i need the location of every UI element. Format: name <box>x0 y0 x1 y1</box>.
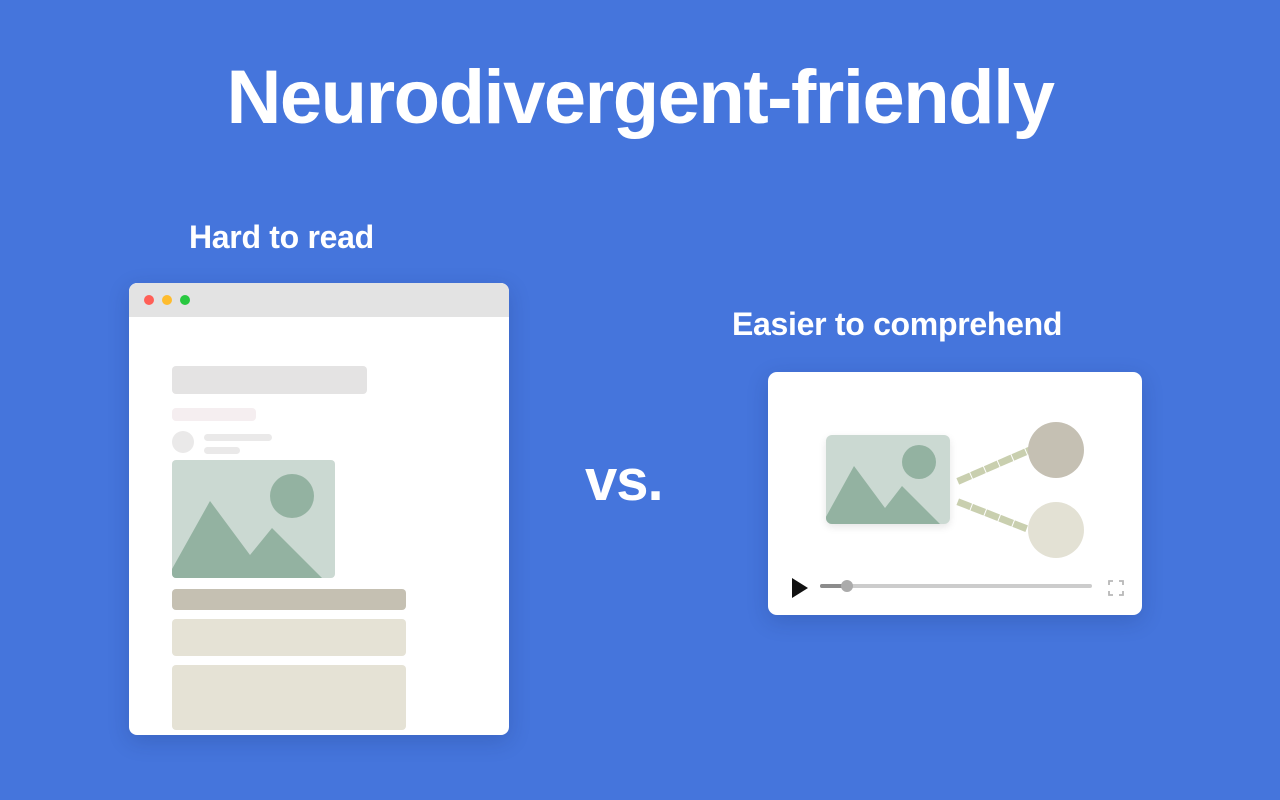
mountains-icon <box>172 493 335 578</box>
concept-node-top <box>1028 422 1084 478</box>
image-placeholder <box>172 460 335 578</box>
traffic-light-minimize-icon[interactable] <box>162 295 172 305</box>
skeleton-meta-line-2 <box>204 447 240 454</box>
content-bar <box>172 665 406 730</box>
mountains-icon <box>826 460 950 524</box>
progress-handle[interactable] <box>841 580 853 592</box>
fullscreen-icon[interactable] <box>1108 580 1124 596</box>
skeleton-title-block <box>172 366 367 394</box>
skeleton-meta-line-1 <box>204 434 272 441</box>
video-thumbnail <box>826 435 950 524</box>
connector-line-bottom <box>961 503 1030 530</box>
browser-window-mockup <box>129 283 509 735</box>
content-bar <box>172 589 406 610</box>
video-player-card <box>768 372 1142 615</box>
video-controls-bar <box>768 575 1142 597</box>
browser-titlebar <box>129 283 509 317</box>
skeleton-subtitle-block <box>172 408 256 421</box>
page-title: Neurodivergent-friendly <box>0 60 1280 136</box>
content-bar <box>172 619 406 656</box>
concept-node-bottom <box>1028 502 1084 558</box>
avatar <box>172 431 194 453</box>
progress-bar[interactable] <box>820 584 1092 588</box>
label-easier-to-comprehend: Easier to comprehend <box>732 306 1062 343</box>
versus-separator: vs. <box>585 452 663 510</box>
traffic-light-close-icon[interactable] <box>144 295 154 305</box>
play-icon[interactable] <box>792 578 808 598</box>
connector-line-top <box>961 450 1030 480</box>
traffic-light-maximize-icon[interactable] <box>180 295 190 305</box>
label-hard-to-read: Hard to read <box>189 219 374 256</box>
